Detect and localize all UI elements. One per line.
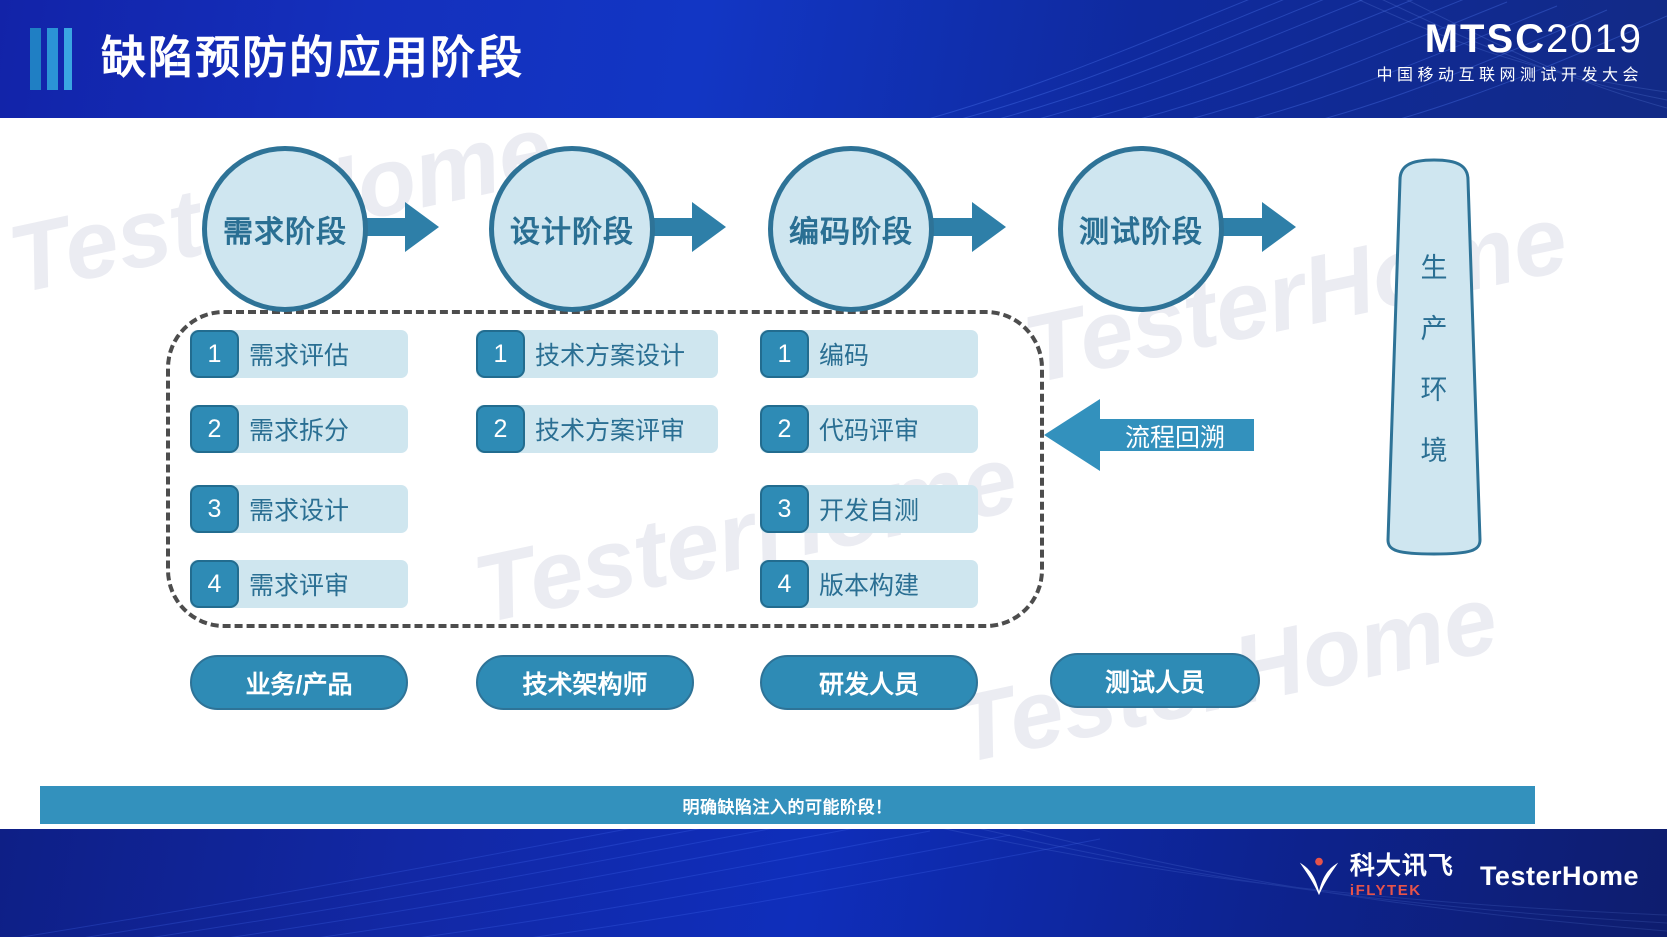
task-item[interactable]: 4 需求评审 [190, 560, 408, 608]
production-environment-label: 生 产 环 境 [1386, 158, 1482, 556]
summary-banner: 明确缺陷注入的可能阶段！ [40, 786, 1535, 824]
footer-logo-group: 科大讯飞 iFLYTEK TesterHome [1296, 853, 1639, 899]
task-item[interactable]: 2 需求拆分 [190, 405, 408, 453]
task-label: 版本构建 [819, 566, 919, 602]
accent-bar-2 [47, 28, 58, 90]
brand-logotype: MTSC2019 [1376, 16, 1643, 62]
task-number-badge: 1 [190, 330, 239, 378]
role-pill-label: 业务/产品 [246, 665, 353, 701]
iflytek-name-en: iFLYTEK [1350, 883, 1454, 898]
stage-circle-testing[interactable]: 测试阶段 [1058, 146, 1224, 312]
brand-subtitle: 中国移动互联网测试开发大会 [1376, 64, 1643, 88]
role-pill-architect[interactable]: 技术架构师 [476, 655, 694, 710]
testerhome-logo: TesterHome [1480, 861, 1639, 892]
conference-brand: MTSC2019 中国移动互联网测试开发大会 [1376, 16, 1643, 88]
task-label: 代码评审 [819, 411, 919, 447]
stage-circle-design[interactable]: 设计阶段 [489, 146, 655, 312]
accent-bar-3 [64, 28, 72, 90]
iflytek-name-cn: 科大讯飞 [1350, 854, 1454, 879]
role-pill-label: 测试人员 [1105, 663, 1205, 699]
task-number-badge: 1 [476, 330, 525, 378]
task-label: 开发自测 [819, 491, 919, 527]
task-item[interactable]: 1 编码 [760, 330, 978, 378]
brand-name: MTSC [1425, 17, 1546, 61]
role-pill-label: 研发人员 [819, 665, 919, 701]
iflytek-logo: 科大讯飞 iFLYTEK [1296, 853, 1454, 899]
stage-circle-label: 编码阶段 [789, 207, 913, 251]
stage-circle-requirement[interactable]: 需求阶段 [202, 146, 368, 312]
role-pill-developer[interactable]: 研发人员 [760, 655, 978, 710]
header-accent-bars [30, 28, 72, 90]
task-number-badge: 2 [476, 405, 525, 453]
task-label: 需求评估 [249, 336, 349, 372]
task-label: 编码 [819, 336, 869, 372]
role-pill-tester[interactable]: 测试人员 [1050, 653, 1260, 708]
slide-header: 缺陷预防的应用阶段 MTSC2019 中国移动互联网测试开发大会 [0, 0, 1667, 118]
iflytek-wordmark: 科大讯飞 iFLYTEK [1350, 854, 1454, 898]
task-label: 技术方案评审 [535, 411, 685, 447]
task-item[interactable]: 2 技术方案评审 [476, 405, 718, 453]
task-item[interactable]: 4 版本构建 [760, 560, 978, 608]
stage-circle-label: 需求阶段 [223, 207, 347, 251]
iflytek-mark-icon [1296, 853, 1342, 899]
stage-arrow-icon-2 [650, 200, 728, 254]
stage-arrow-icon-3 [930, 200, 1008, 254]
task-number-badge: 2 [190, 405, 239, 453]
production-char-1: 生 [1421, 246, 1448, 285]
role-pill-business-product[interactable]: 业务/产品 [190, 655, 408, 710]
role-pill-label: 技术架构师 [522, 665, 647, 701]
production-char-4: 境 [1421, 429, 1448, 468]
task-number-badge: 4 [190, 560, 239, 608]
task-item[interactable]: 3 需求设计 [190, 485, 408, 533]
task-number-badge: 1 [760, 330, 809, 378]
production-char-3: 环 [1421, 368, 1448, 407]
process-feedback-label: 流程回溯 [1100, 420, 1250, 452]
task-item[interactable]: 3 开发自测 [760, 485, 978, 533]
slide-footer: 科大讯飞 iFLYTEK TesterHome [0, 829, 1667, 937]
task-number-badge: 4 [760, 560, 809, 608]
stage-circle-label: 设计阶段 [510, 207, 634, 251]
stage-arrow-icon-4 [1220, 200, 1298, 254]
slide-root: 缺陷预防的应用阶段 MTSC2019 中国移动互联网测试开发大会 TesterH… [0, 0, 1667, 937]
stage-circle-label: 测试阶段 [1079, 207, 1203, 251]
stage-arrow-icon-1 [363, 200, 441, 254]
task-label: 需求设计 [249, 491, 349, 527]
production-char-2: 产 [1421, 307, 1448, 346]
task-number-badge: 3 [760, 485, 809, 533]
summary-banner-text: 明确缺陷注入的可能阶段！ [683, 793, 893, 818]
brand-year: 2019 [1546, 17, 1643, 61]
page-title: 缺陷预防的应用阶段 [101, 18, 524, 98]
task-label: 技术方案设计 [535, 336, 685, 372]
task-label: 需求拆分 [249, 411, 349, 447]
task-label: 需求评审 [249, 566, 349, 602]
task-item[interactable]: 1 技术方案设计 [476, 330, 718, 378]
task-item[interactable]: 2 代码评审 [760, 405, 978, 453]
task-number-badge: 2 [760, 405, 809, 453]
accent-bar-1 [30, 28, 41, 90]
task-number-badge: 3 [190, 485, 239, 533]
task-item[interactable]: 1 需求评估 [190, 330, 408, 378]
stage-circle-coding[interactable]: 编码阶段 [768, 146, 934, 312]
